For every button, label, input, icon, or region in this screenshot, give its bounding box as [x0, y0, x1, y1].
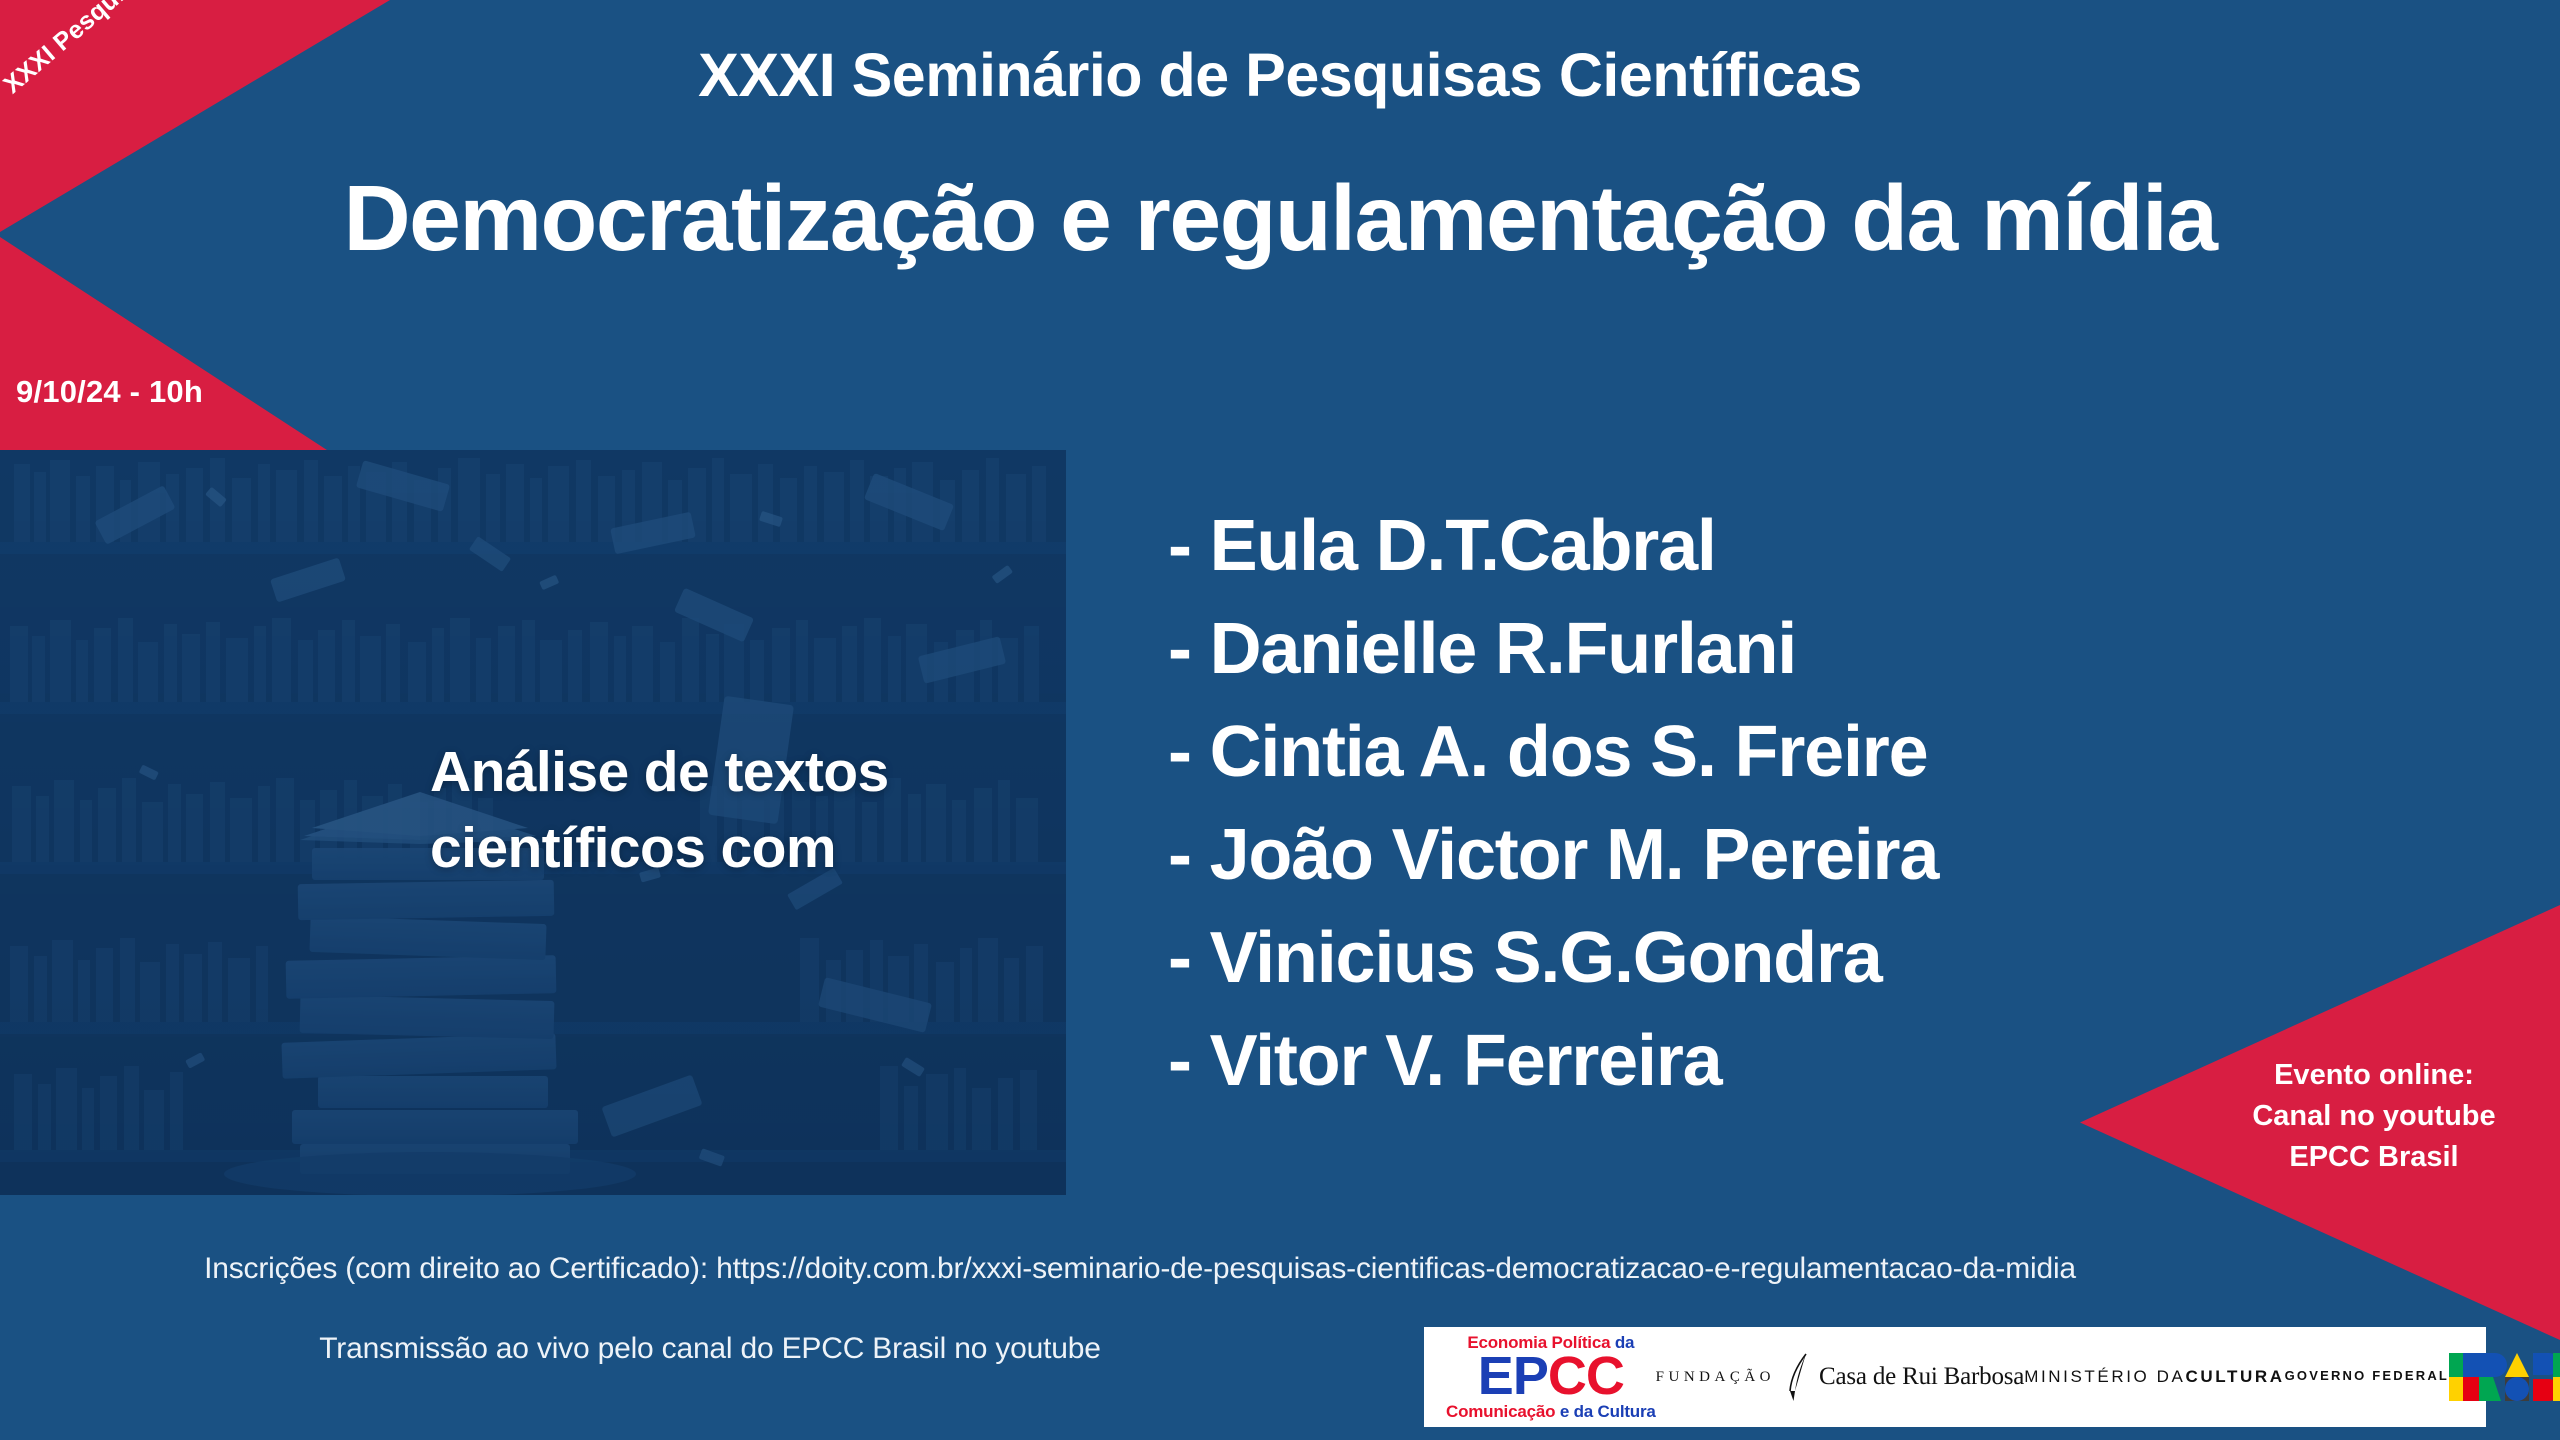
- federal-government-logo: GOVERNO FEDERAL UN: [2285, 1353, 2560, 1401]
- fcrb-foundation-word: FUNDAÇÃO: [1656, 1369, 1775, 1386]
- quill-icon: [1784, 1351, 1810, 1403]
- list-item: - Cintia A. dos S. Freire: [1168, 701, 2368, 804]
- photo-caption-line2: científicos com: [430, 811, 1050, 887]
- epcc-logo: Economia Política da EPCC Comunicação e …: [1446, 1334, 1656, 1421]
- online-badge-line3: EPCC Brasil: [2210, 1137, 2538, 1178]
- photo-caption: Análise de textos científicos com: [430, 735, 1050, 887]
- epcc-bottom-blue: e da Cultura: [1560, 1402, 1656, 1421]
- sponsor-logo-bar: Economia Política da EPCC Comunicação e …: [1424, 1327, 2486, 1427]
- epcc-mid-red: CC: [1548, 1346, 1624, 1406]
- photo-caption-line1: Análise de textos: [430, 735, 1050, 811]
- seminar-kicker: XXXI Seminário de Pesquisas Científicas: [0, 40, 2560, 110]
- event-poster: XXXI Pesquisas Científicas 9/10/24 - 10h…: [0, 0, 2560, 1440]
- list-item: - João Victor M. Pereira: [1168, 804, 2368, 907]
- registration-link[interactable]: Inscrições (com direito ao Certificado):…: [0, 1252, 2560, 1286]
- list-item: - Vinicius S.G.Gondra: [1168, 907, 2368, 1010]
- ministry-of-culture-logo: MINISTÉRIO DA CULTURA: [2024, 1367, 2284, 1388]
- event-date-time: 9/10/24 - 10h: [16, 374, 203, 410]
- corner-triangle-lower: [0, 237, 330, 452]
- minc-line1: MINISTÉRIO DA: [2024, 1367, 2185, 1388]
- minc-line2: CULTURA: [2186, 1367, 2285, 1388]
- livestream-note: Transmissão ao vivo pelo canal do EPCC B…: [0, 1332, 1420, 1366]
- gov-top-label: GOVERNO FEDERAL: [2285, 1369, 2449, 1382]
- list-item: - Danielle R.Furlani: [1168, 598, 2368, 701]
- list-item: - Vitor V. Ferreira: [1168, 1010, 2368, 1113]
- fcrb-name: Casa de Rui Barbosa: [1819, 1363, 2024, 1391]
- brasil-wordmark-icon: [2449, 1353, 2560, 1401]
- list-item: - Eula D.T.Cabral: [1168, 495, 2368, 598]
- epcc-bottom-red: Comunicação: [1446, 1402, 1555, 1421]
- fcrb-logo: FUNDAÇÃO Casa de Rui Barbosa: [1656, 1351, 2025, 1403]
- speakers-list: - Eula D.T.Cabral - Danielle R.Furlani -…: [1168, 495, 2368, 1113]
- epcc-mid-blue: EP: [1478, 1346, 1548, 1406]
- page-title: Democratização e regulamentação da mídia: [0, 170, 2560, 268]
